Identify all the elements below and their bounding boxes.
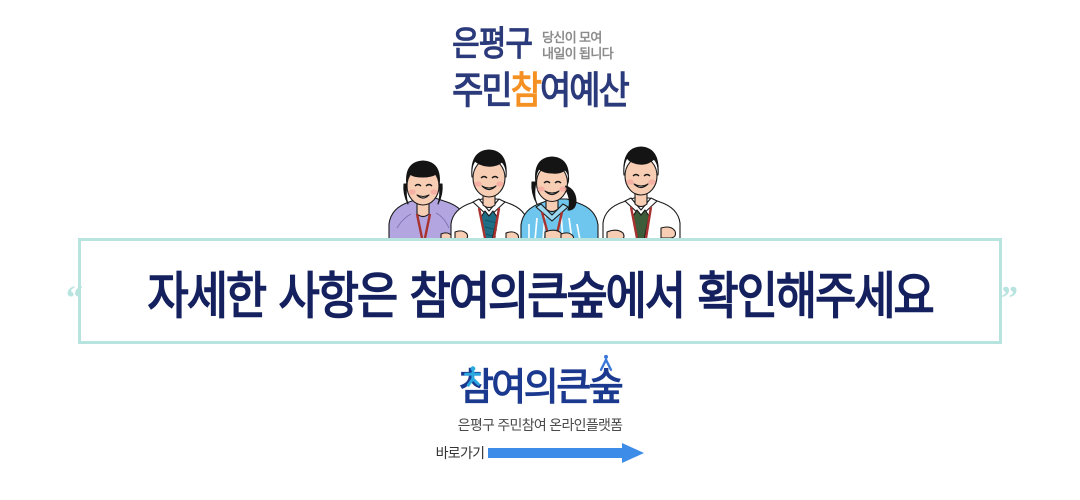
platform-logo-part2: 여의큰 [491, 368, 588, 406]
top-logo-slogan: 당신이 모여 내일이 됩니다 [542, 28, 613, 63]
platform-logo-cham: 참 [459, 368, 491, 406]
top-logo-title-part1: 주민 [452, 68, 511, 113]
platform-subtitle: 은평구 주민참여 온라인플랫폼 [458, 415, 623, 435]
top-logo-title: 주민참여예산 [452, 72, 628, 110]
headline-text: 자세한 사항은 참여의큰숲에서 확인해주세요 [0, 232, 1080, 351]
top-logo-title-accent: 참 [511, 68, 540, 113]
go-to-platform-label: 바로가기 [436, 443, 485, 463]
go-to-platform-link[interactable]: 바로가기 [436, 443, 645, 463]
poster-root: 은평구 당신이 모여 내일이 됩니다 주민참여예산 [0, 0, 1080, 500]
running-person-icon [461, 365, 483, 387]
person-2 [451, 150, 528, 241]
slogan-line-1: 당신이 모여 [542, 30, 613, 46]
person-tree-icon [595, 354, 617, 374]
platform-logo[interactable]: 참 여의큰 숲 [459, 368, 621, 406]
person-3 [521, 157, 598, 240]
headline-band: “ ” 자세한 사항은 참여의큰숲에서 확인해주세요 [0, 238, 1080, 344]
person-4 [603, 147, 680, 240]
slogan-line-2: 내일이 됩니다 [542, 46, 613, 62]
arrow-right-icon [488, 443, 644, 463]
top-logo-brand: 은평구 [452, 28, 532, 63]
bottom-logo-block: 참 여의큰 숲 은평구 주민참여 온라인플랫폼 바로가기 [0, 368, 1080, 463]
top-logo: 은평구 당신이 모여 내일이 됩니다 주민참여예산 [0, 28, 1080, 106]
top-logo-row-1: 은평구 당신이 모여 내일이 됩니다 [452, 28, 613, 63]
platform-logo-sup: 숲 [589, 368, 621, 406]
top-logo-title-part2: 여예산 [540, 68, 628, 113]
